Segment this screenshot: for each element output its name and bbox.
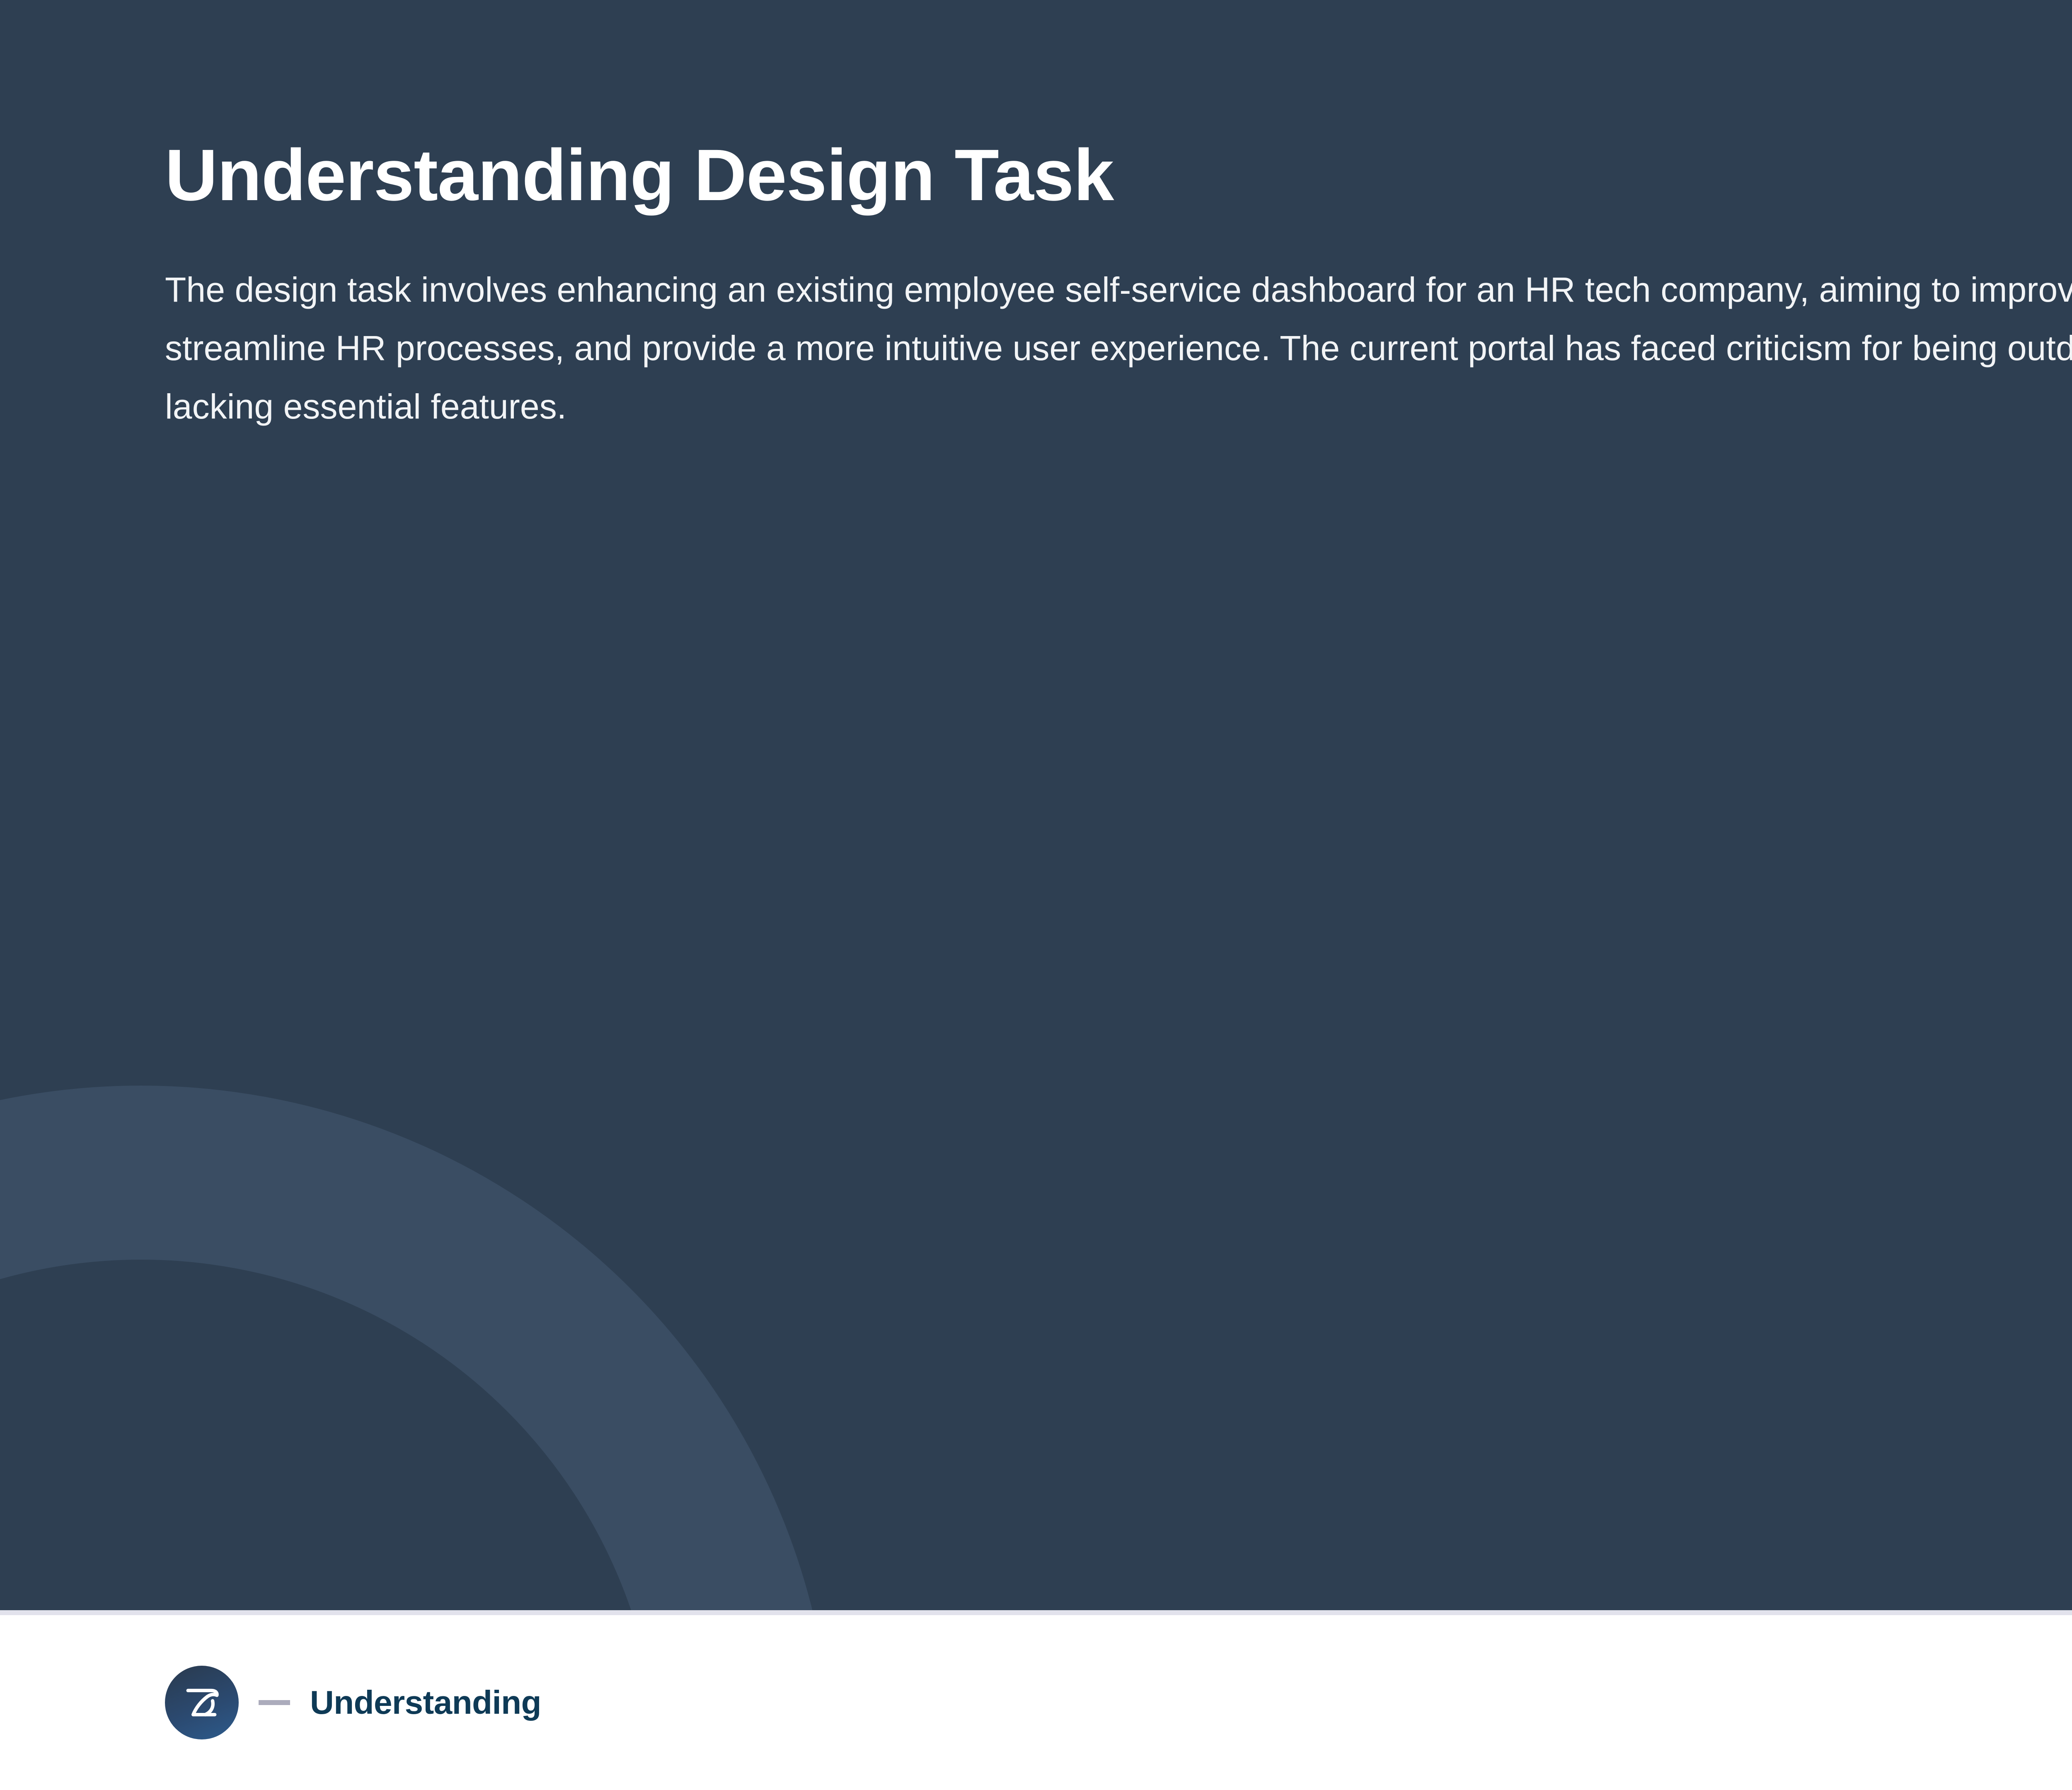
dash-divider-icon [259, 1700, 290, 1705]
slide: Understanding Design Task The design tas… [0, 0, 2072, 1790]
brand-monogram-icon[interactable] [165, 1666, 239, 1739]
slide-content: Understanding Design Task The design tas… [165, 137, 2072, 436]
page-title: Understanding Design Task [165, 137, 2072, 214]
footer-brand-group: Understanding [165, 1666, 541, 1739]
slide-body-text: The design task involves enhancing an ex… [165, 261, 2072, 436]
slide-footer: Understanding 01 [0, 1610, 2072, 1790]
footer-section-label: Understanding [310, 1684, 541, 1722]
